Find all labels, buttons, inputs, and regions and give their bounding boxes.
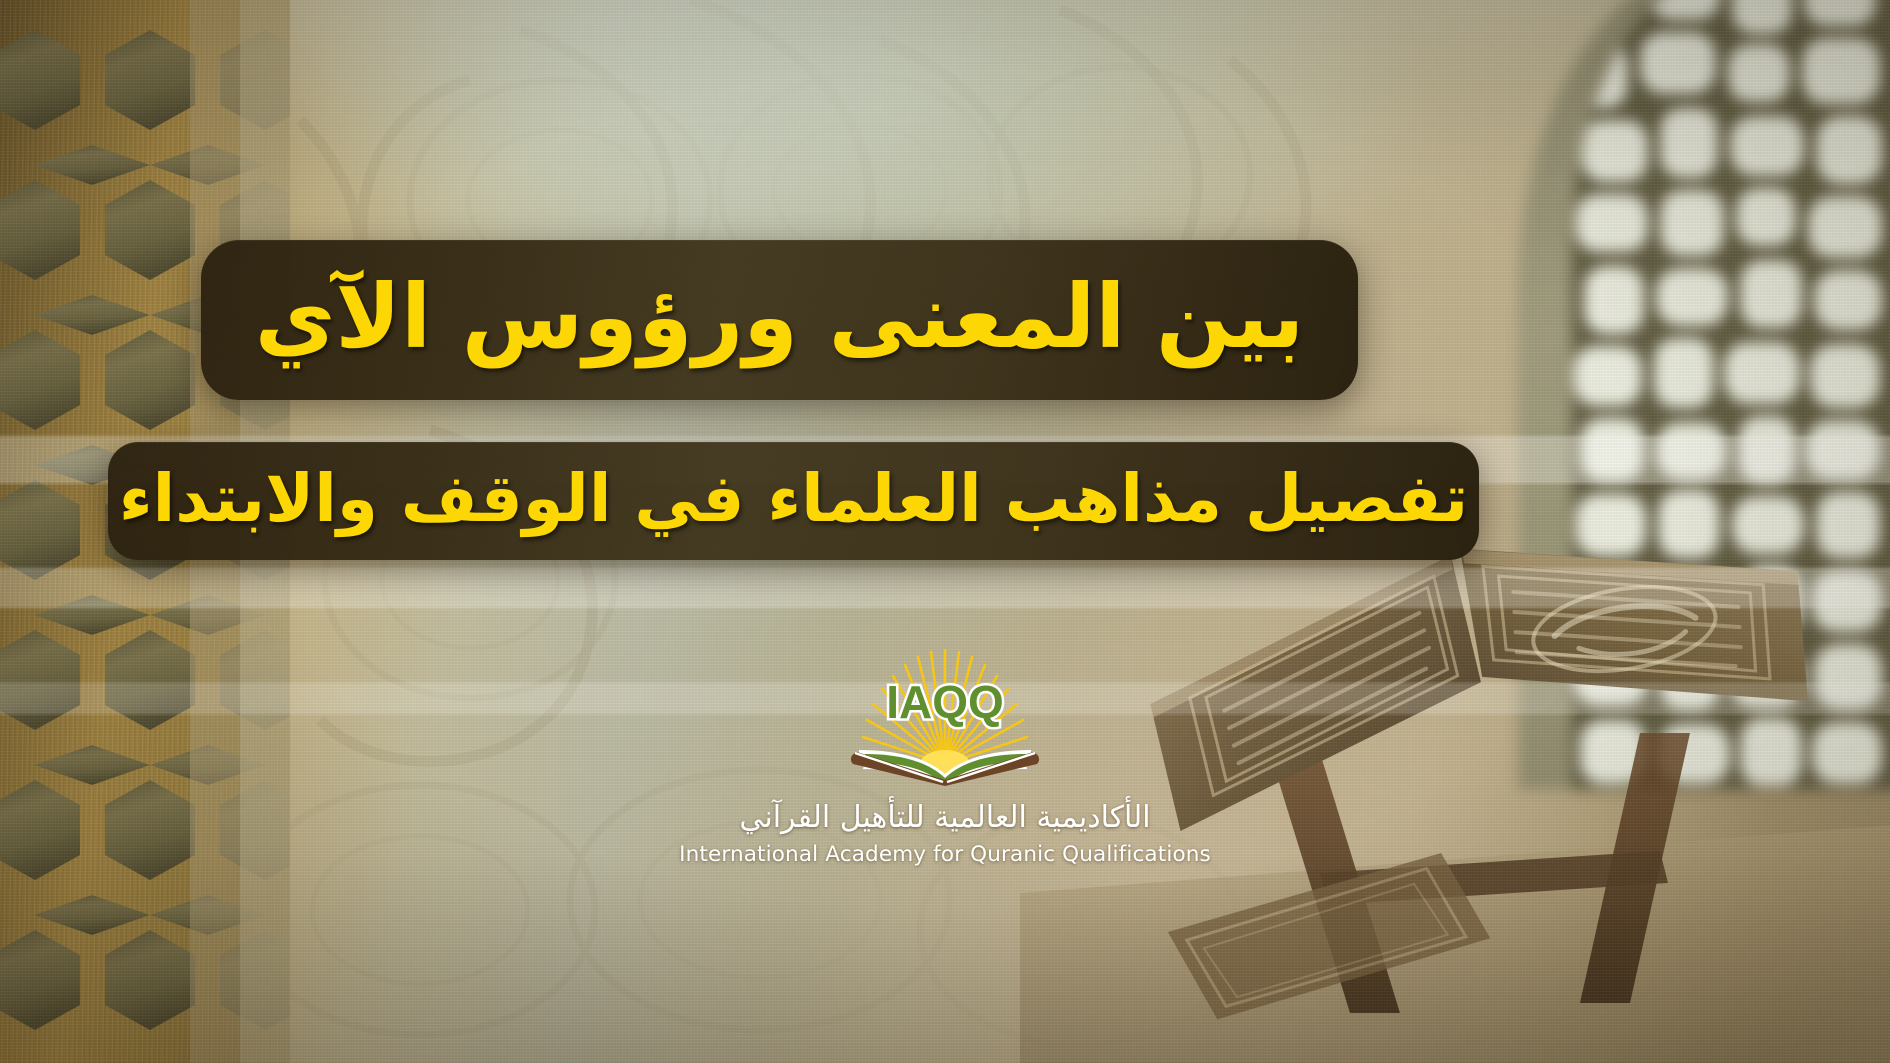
logo-acronym: IAQQ [886,676,1004,728]
poster-subtitle: تفصيل مذاهب العلماء في الوقف والابتداء [119,466,1468,532]
academy-name-arabic: الأكاديمية العالمية للتأهيل القرآني [739,800,1150,835]
poster-canvas: بين المعنى ورؤوس الآي تفصيل مذاهب العلما… [0,0,1890,1063]
academy-name-english: International Academy for Quranic Qualif… [679,842,1211,867]
subtitle-banner: تفصيل مذاهب العلماء في الوقف والابتداء [108,442,1479,560]
logo-block: IAQQ الأكاديمية العالمية للتأهيل القرآني… [0,646,1890,867]
title-banner: بين المعنى ورؤوس الآي [201,240,1358,400]
poster-title: بين المعنى ورؤوس الآي [255,273,1304,361]
open-book-sunburst-icon: IAQQ [839,646,1051,786]
